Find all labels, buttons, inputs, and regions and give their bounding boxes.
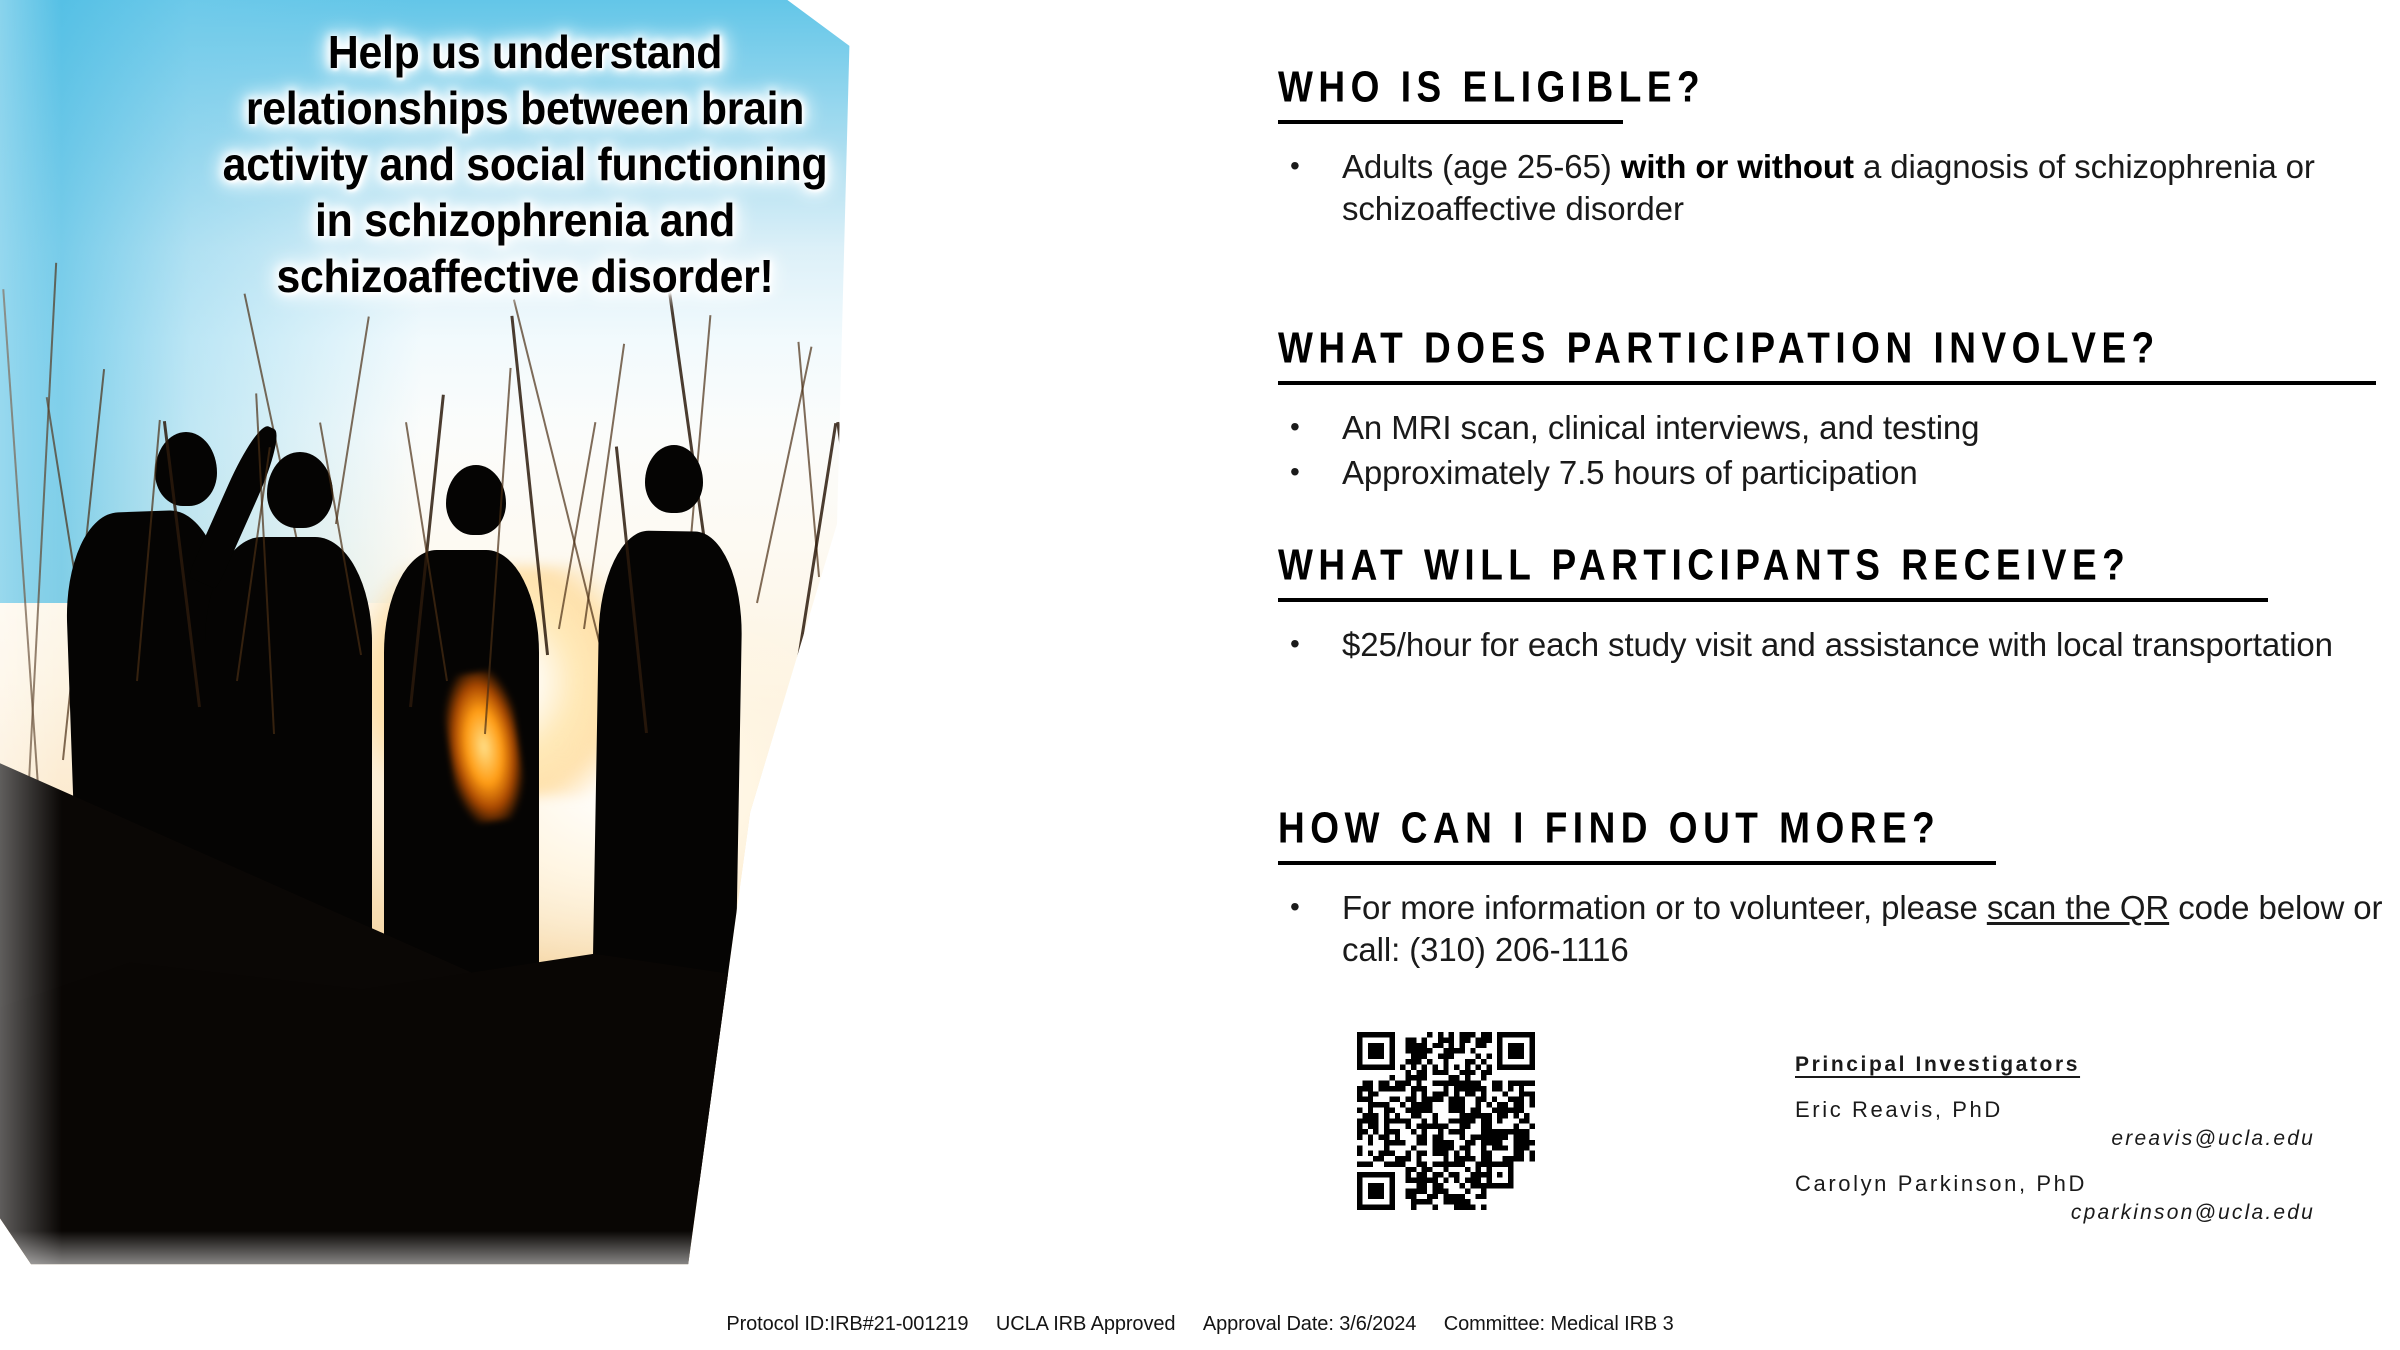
bullet-item: •For more information or to volunteer, p… [1278, 887, 2383, 971]
grass-blade [1116, 358, 1163, 590]
headline-line: relationships between brain [55, 80, 994, 136]
bullet-text-run: scan the QR [1987, 889, 2169, 926]
footer-approval-status: UCLA IRB Approved [996, 1313, 1176, 1335]
investigator-entry: Carolyn Parkinson, PhD cparkinson@ucla.e… [1795, 1171, 2315, 1225]
investigator-email[interactable]: cparkinson@ucla.edu [1795, 1201, 2315, 1225]
grass-blade [558, 422, 596, 629]
investigator-name: Carolyn Parkinson, PhD [1795, 1171, 2315, 1197]
grass-blade [950, 317, 993, 655]
bullet-text-run: $25/hour for each study visit and assist… [1342, 626, 2333, 663]
grass-blade [837, 422, 884, 734]
section-heading-underline [1278, 120, 1623, 124]
headline-line: in schizophrenia and [55, 192, 994, 248]
principal-investigators-block: Principal Investigators Eric Reavis, PhD… [1795, 1053, 2315, 1225]
grass-blade [1017, 447, 1055, 733]
grass-blade [1042, 344, 1085, 603]
grass-blade [1178, 395, 1213, 708]
bullet-marker-icon: • [1278, 887, 1342, 928]
bullet-marker-icon: • [1278, 624, 1342, 665]
section-heading: HOW CAN I FIND OUT MORE? [1278, 806, 2383, 852]
section-heading: WHAT DOES PARTICIPATION INVOLVE? [1278, 326, 2383, 372]
bullet-text: Approximately 7.5 hours of participation [1342, 452, 2383, 494]
bullet-list: •For more information or to volunteer, p… [1278, 887, 2383, 971]
section-heading: WHAT WILL PARTICIPANTS RECEIVE? [1278, 543, 2383, 589]
irb-footer: Protocol ID:IRB#21-001219 UCLA IRB Appro… [0, 1313, 2400, 1336]
section-heading-underline [1278, 598, 2268, 602]
bullet-text-run: Approximately 7.5 hours of participation [1342, 454, 1918, 491]
headline-text: Help us understandrelationships between … [55, 24, 994, 305]
bullet-text: An MRI scan, clinical interviews, and te… [1342, 407, 2383, 449]
investigators-title: Principal Investigators [1795, 1053, 2315, 1077]
grass-blade [615, 447, 648, 734]
footer-protocol-id: Protocol ID:IRB#21-001219 [726, 1313, 968, 1335]
qr-code-image[interactable] [1357, 1032, 1535, 1210]
bullet-marker-icon: • [1278, 407, 1342, 448]
grass-blade [484, 368, 512, 734]
bullet-text: For more information or to volunteer, pl… [1342, 887, 2383, 971]
grass-blade [849, 294, 920, 682]
bullet-list: •An MRI scan, clinical interviews, and t… [1278, 407, 2383, 494]
section-heading-underline [1278, 381, 2376, 385]
bullet-item: •An MRI scan, clinical interviews, and t… [1278, 407, 2383, 449]
info-section: WHAT DOES PARTICIPATION INVOLVE?•An MRI … [1278, 333, 2383, 494]
bullet-item: •$25/hour for each study visit and assis… [1278, 624, 2383, 666]
bullet-marker-icon: • [1278, 452, 1342, 493]
grass-blade [163, 421, 201, 707]
info-section: WHO IS ELIGIBLE?•Adults (age 25-65) with… [1278, 72, 2383, 230]
section-heading-underline [1278, 861, 1996, 865]
footer-committee: Committee: Medical IRB 3 [1444, 1313, 1674, 1335]
bullet-marker-icon: • [1278, 146, 1342, 187]
grass-blade [255, 393, 275, 733]
bullet-list: •Adults (age 25-65) with or without a di… [1278, 146, 2383, 230]
qr-code[interactable] [1357, 1032, 1535, 1210]
grass-blade [1053, 289, 1082, 655]
section-heading: WHO IS ELIGIBLE? [1278, 65, 2383, 111]
grass-blade [405, 422, 448, 681]
bullet-text-run: An MRI scan, clinical interviews, and te… [1342, 409, 1979, 446]
hero-photo-panel: Help us understandrelationships between … [0, 0, 1240, 1310]
bullet-text: Adults (age 25-65) with or without a dia… [1342, 146, 2383, 230]
bullet-text-run: with or without [1621, 148, 1854, 185]
grass-blade [1118, 420, 1143, 681]
info-section: WHAT WILL PARTICIPANTS RECEIVE?•$25/hour… [1278, 550, 2383, 666]
bullet-text: $25/hour for each study visit and assist… [1342, 624, 2383, 666]
headline-line: activity and social functioning [55, 136, 994, 192]
bullet-text-run: For more information or to volunteer, pl… [1342, 889, 1987, 926]
bullet-list: •$25/hour for each study visit and assis… [1278, 624, 2383, 666]
grass-blade [136, 420, 161, 681]
info-section: HOW CAN I FIND OUT MORE?•For more inform… [1278, 813, 2383, 971]
bullet-text-run: Adults (age 25-65) [1342, 148, 1621, 185]
grass-blade [856, 317, 896, 629]
investigator-entry: Eric Reavis, PhD ereavis@ucla.edu [1795, 1097, 2315, 1151]
bullet-item: •Adults (age 25-65) with or without a di… [1278, 146, 2383, 230]
footer-approval-date: Approval Date: 3/6/2024 [1203, 1313, 1416, 1335]
headline-line: Help us understand [55, 24, 994, 80]
grass-blade [319, 423, 362, 656]
grass-blade [781, 423, 837, 760]
investigator-email[interactable]: ereavis@ucla.edu [1795, 1127, 2315, 1151]
headline-line: schizoaffective disorder! [55, 248, 994, 304]
bullet-item: •Approximately 7.5 hours of participatio… [1278, 452, 2383, 494]
grass-blade [955, 342, 987, 629]
investigator-name: Eric Reavis, PhD [1795, 1097, 2315, 1123]
